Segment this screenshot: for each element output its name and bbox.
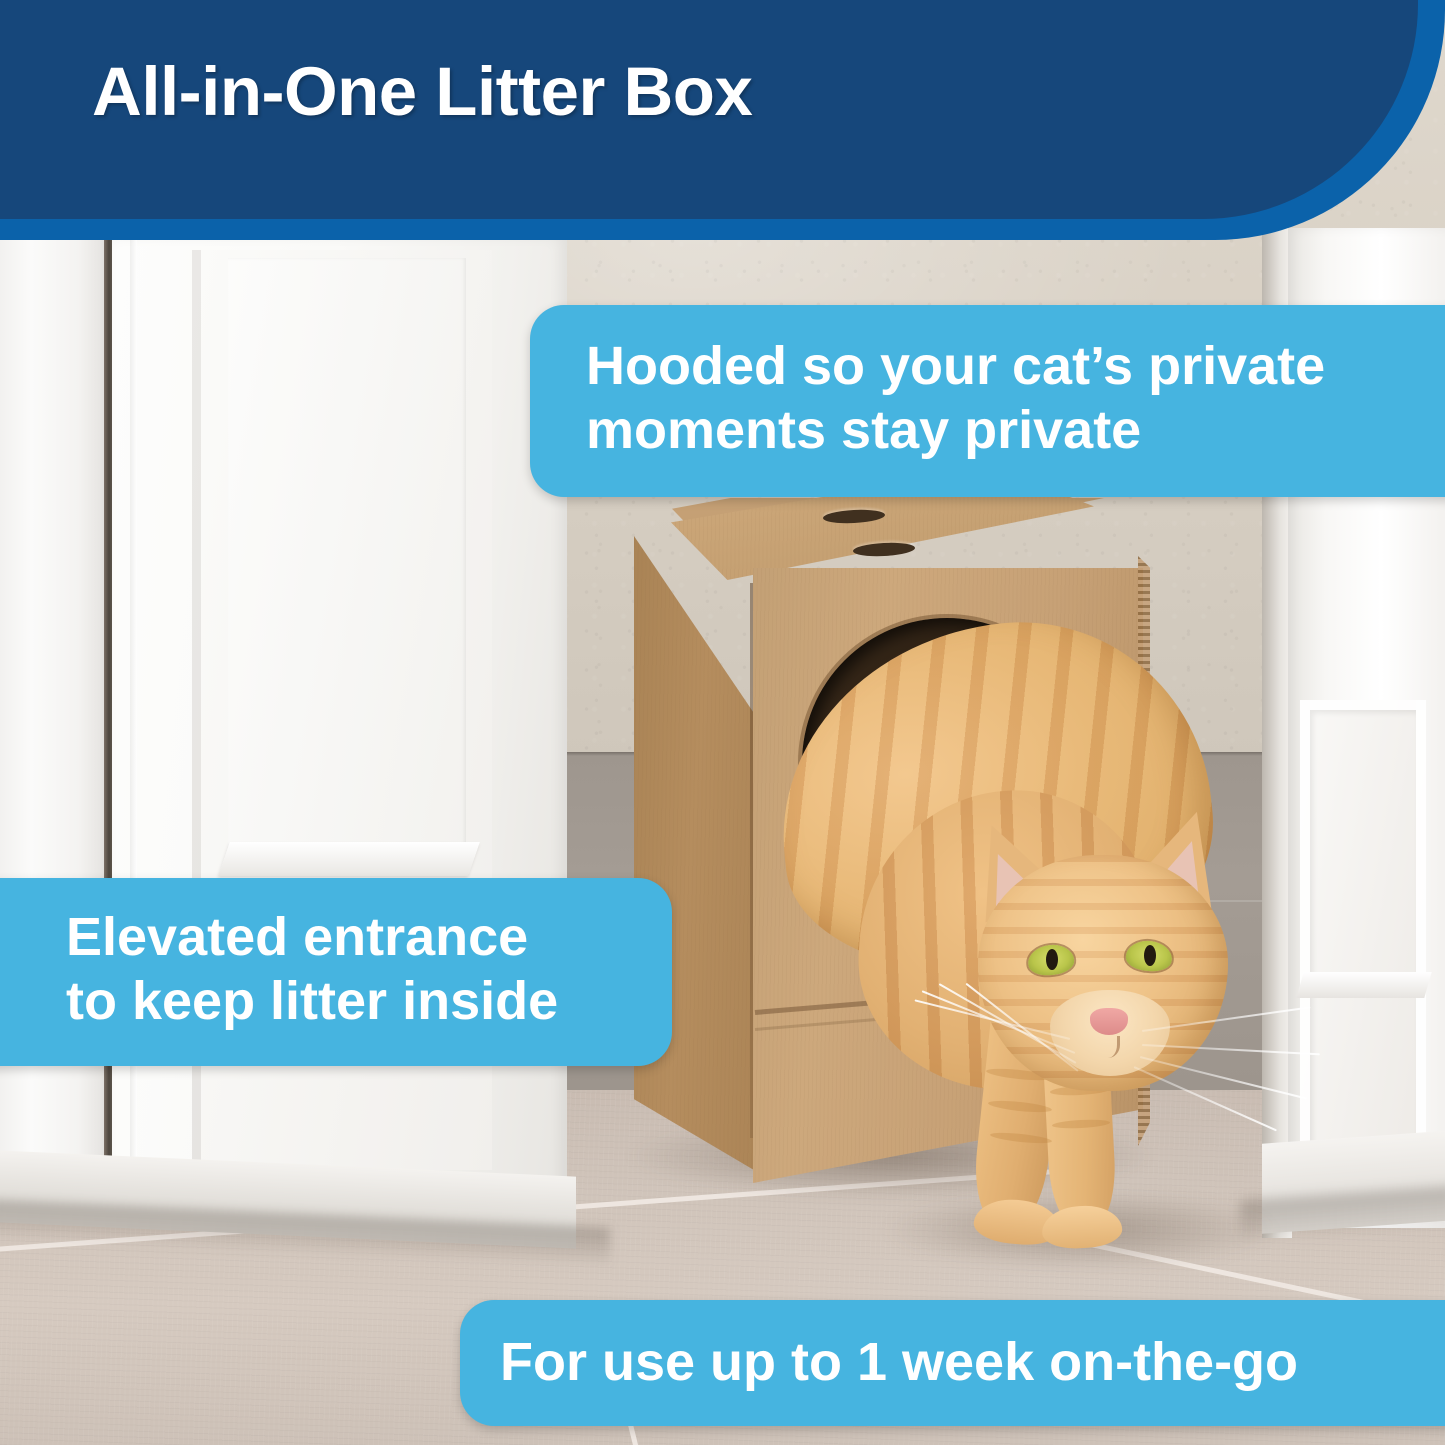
cat-paw bbox=[1041, 1204, 1123, 1250]
box-vertical-crease bbox=[750, 583, 753, 1138]
door-left-panel-inset bbox=[228, 258, 466, 858]
callout-one-week-line1: For use up to 1 week on-the-go bbox=[500, 1333, 1298, 1392]
callout-hooded: Hooded so your cat’s private moments sta… bbox=[530, 305, 1445, 497]
orange-tabby-cat bbox=[760, 600, 1320, 1260]
page-title: All-in-One Litter Box bbox=[92, 52, 752, 131]
callout-elevated-entrance: Elevated entrance to keep litter inside bbox=[0, 878, 672, 1066]
cat-whisker bbox=[1140, 1056, 1307, 1100]
cat-pupil-right bbox=[1144, 945, 1156, 966]
door-left-panel-sill bbox=[218, 842, 480, 876]
callout-elevated-line1: Elevated entrance bbox=[66, 906, 558, 970]
callout-elevated-line2: to keep litter inside bbox=[66, 970, 558, 1034]
box-left-face bbox=[634, 536, 764, 1176]
infographic-canvas: All-in-One Litter Box Hooded so your cat… bbox=[0, 0, 1445, 1445]
callout-hooded-line1: Hooded so your cat’s private bbox=[586, 335, 1325, 399]
callout-one-week-use: For use up to 1 week on-the-go bbox=[460, 1300, 1445, 1426]
callout-hooded-line2: moments stay private bbox=[586, 399, 1325, 463]
cat-pupil-left bbox=[1046, 949, 1058, 970]
cat-whisker bbox=[1134, 1066, 1277, 1131]
door-left-outer bbox=[0, 228, 108, 1220]
